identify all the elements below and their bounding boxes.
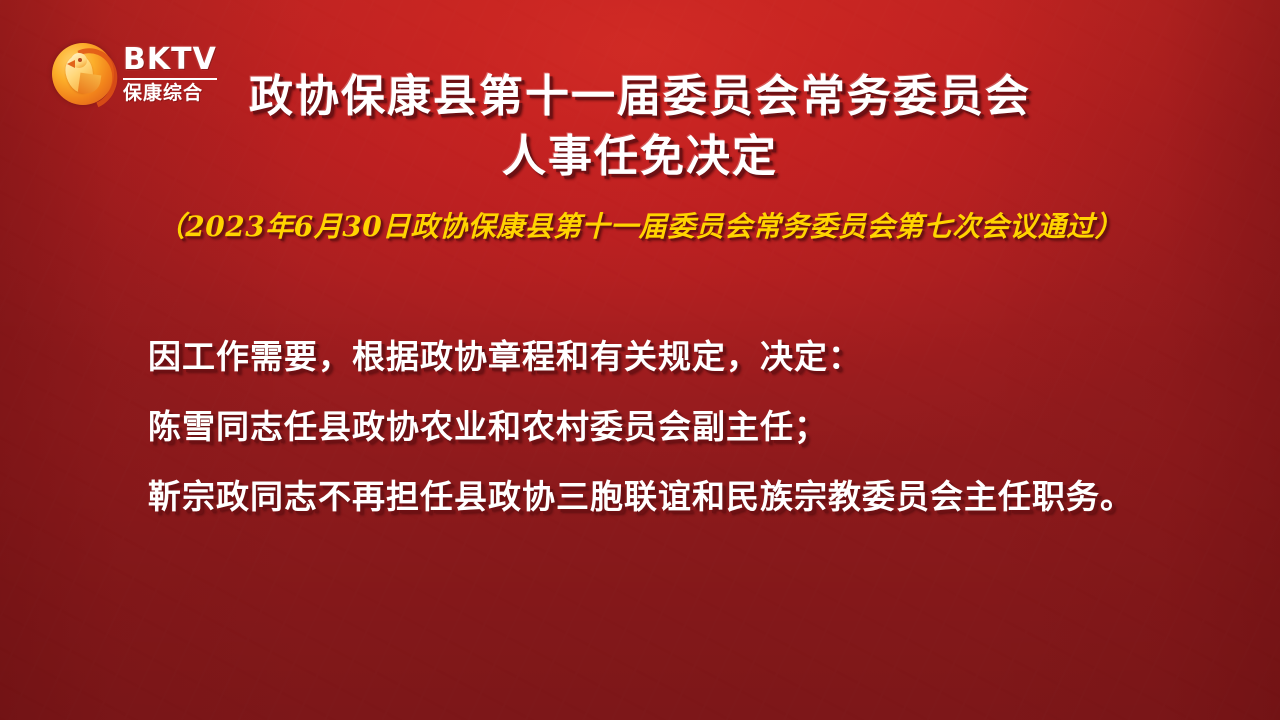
- decision-line: 靳宗政同志不再担任县政协三胞联谊和民族宗教委员会主任职务。: [148, 462, 1180, 532]
- logo-bird-eye: [78, 58, 82, 62]
- decision-line: 陈雪同志任县政协农业和农村委员会副主任；: [148, 392, 1180, 462]
- logo-bird-beak: [67, 60, 75, 68]
- decision-body: 因工作需要，根据政协章程和有关规定，决定： 陈雪同志任县政协农业和农村委员会副主…: [148, 322, 1180, 532]
- headline-block: 政协保康县第十一届委员会常务委员会 人事任免决定: [0, 68, 1280, 186]
- headline-line-1: 政协保康县第十一届委员会常务委员会: [0, 68, 1280, 126]
- headline-line-2: 人事任免决定: [0, 128, 1280, 186]
- subtitle-adoption-note: （2023年6月30日政协保康县第十一届委员会常务委员会第七次会议通过）: [0, 205, 1280, 245]
- decision-line: 因工作需要，根据政协章程和有关规定，决定：: [148, 322, 1180, 392]
- broadcast-screen: BKTV 保康综合 政协保康县第十一届委员会常务委员会 人事任免决定 （2023…: [0, 0, 1280, 720]
